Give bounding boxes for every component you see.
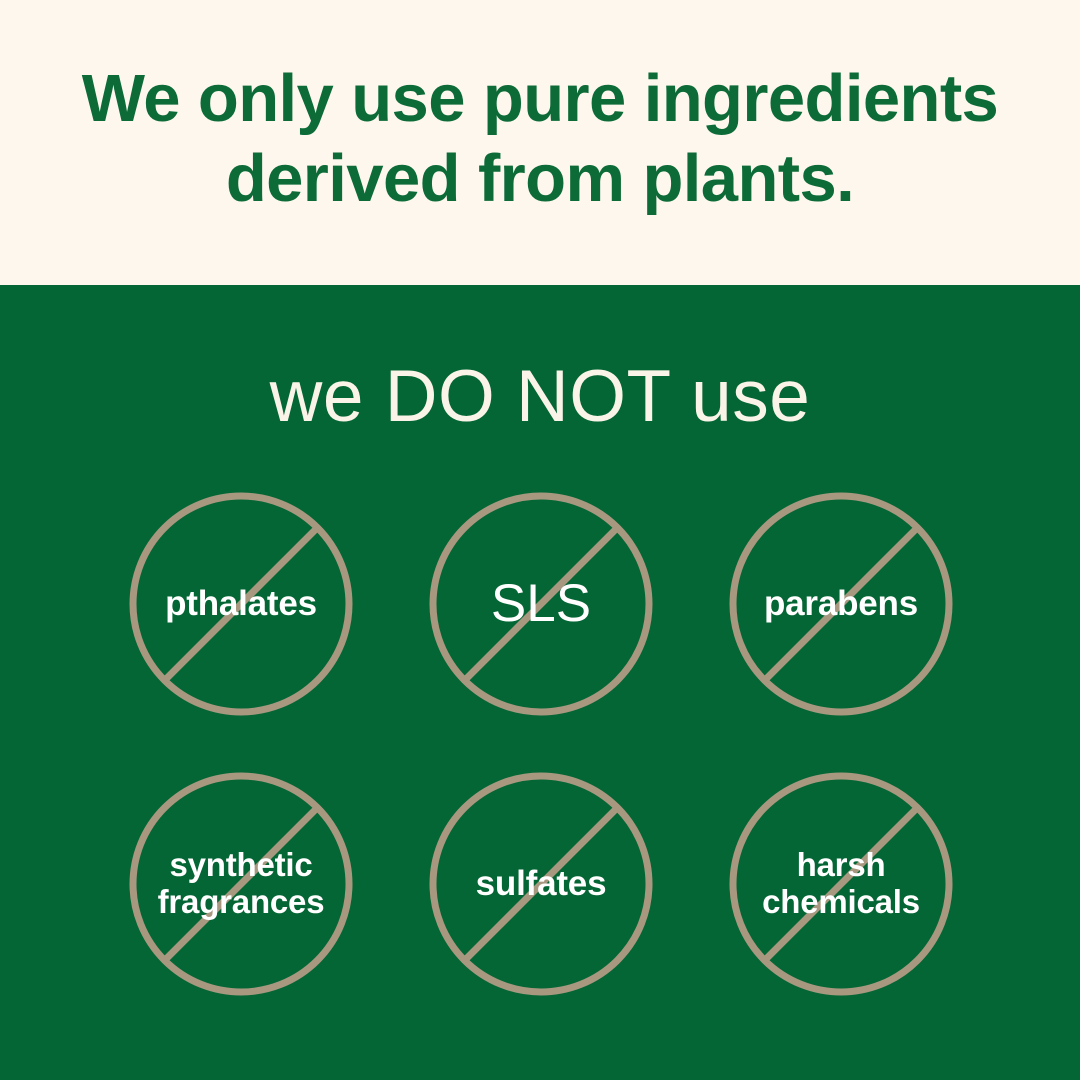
excluded-ingredient-badge: sulfates (429, 772, 653, 996)
prohibition-sign-icon (429, 492, 653, 716)
ingredient-promise-poster: We only use pure ingredients derived fro… (0, 0, 1080, 1080)
section-heading: we DO NOT use (0, 360, 1080, 433)
prohibition-sign-icon (129, 492, 353, 716)
do-not-use-section: we DO NOT use pthalates SLS (0, 285, 1080, 1080)
prohibition-sign-icon (729, 492, 953, 716)
excluded-ingredient-badge: parabens (729, 492, 953, 716)
headline-banner: We only use pure ingredients derived fro… (0, 0, 1080, 285)
prohibition-sign-icon (729, 772, 953, 996)
excluded-ingredients-grid: pthalates SLS parabens (0, 492, 1080, 1038)
prohibition-sign-icon (129, 772, 353, 996)
excluded-ingredient-badge: synthetic fragrances (129, 772, 353, 996)
page-title: We only use pure ingredients derived fro… (82, 59, 998, 217)
prohibition-sign-icon (429, 772, 653, 996)
excluded-ingredient-badge: SLS (429, 492, 653, 716)
excluded-ingredient-badge: pthalates (129, 492, 353, 716)
excluded-ingredient-badge: harsh chemicals (729, 772, 953, 996)
